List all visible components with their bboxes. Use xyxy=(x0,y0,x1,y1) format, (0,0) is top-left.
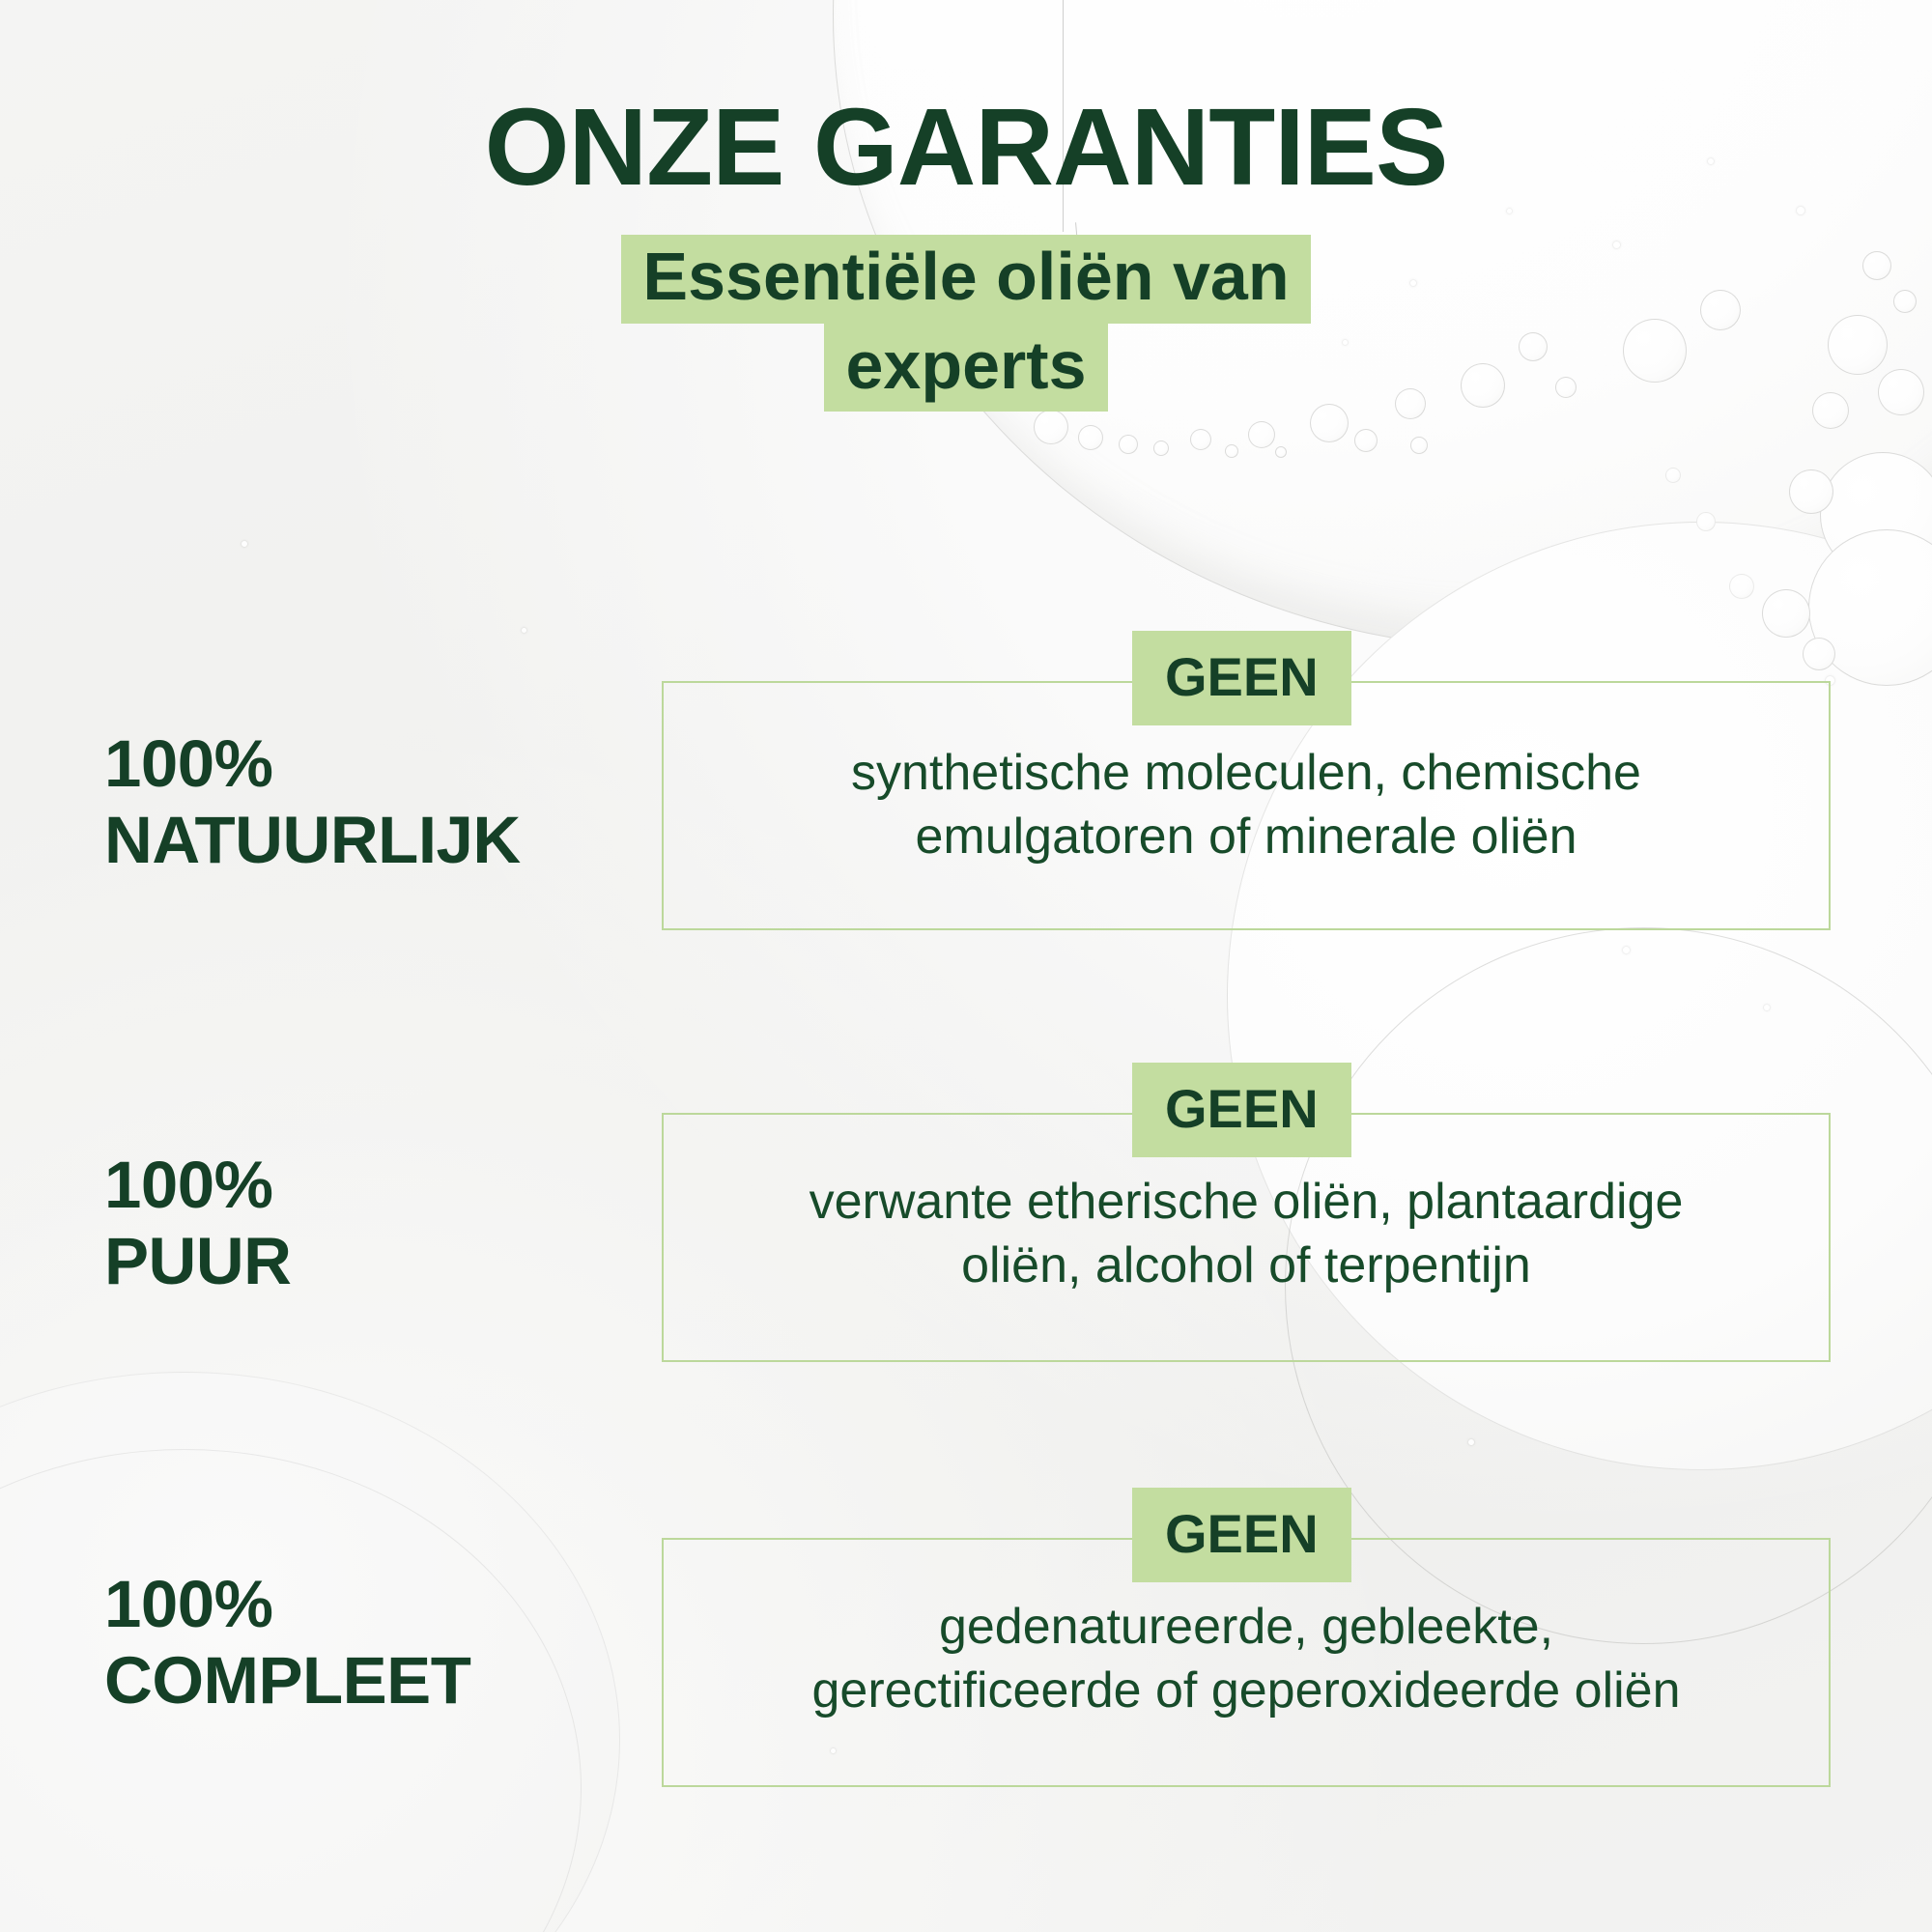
bubble xyxy=(1190,429,1211,450)
status-badge: GEEN xyxy=(1132,1063,1351,1157)
subtitle-line-1: Essentiële oliën van xyxy=(621,235,1310,324)
bubble xyxy=(1225,444,1238,458)
subtitle-line-2: experts xyxy=(824,324,1107,412)
guarantee-text: synthetische moleculen, chemische emulga… xyxy=(681,742,1811,868)
bubble xyxy=(1078,425,1103,450)
status-badge: GEEN xyxy=(1132,1488,1351,1582)
poster-header: ONZE GARANTIES Essentiële oliën van expe… xyxy=(0,93,1932,412)
guarantee-text: verwante etherische oliën, plantaardige … xyxy=(676,1171,1816,1297)
bubble xyxy=(1789,469,1833,514)
bubble xyxy=(1762,589,1810,638)
guarantees-poster: ONZE GARANTIES Essentiële oliën van expe… xyxy=(0,0,1932,1932)
page-title: ONZE GARANTIES xyxy=(0,93,1932,202)
bubble xyxy=(1729,574,1754,599)
sparkle xyxy=(1764,1005,1770,1010)
bubble xyxy=(1119,435,1138,454)
bubble xyxy=(1248,421,1275,448)
guarantee-label: 100% NATUURLIJK xyxy=(104,726,521,878)
sparkle xyxy=(1468,1439,1474,1445)
bubble xyxy=(1354,429,1378,452)
bubble xyxy=(1665,468,1681,483)
bubble xyxy=(1034,410,1068,444)
bubble-large xyxy=(1808,529,1932,686)
bubble xyxy=(1696,512,1716,531)
subtitle: Essentiële oliën van experts xyxy=(0,235,1932,412)
bubble xyxy=(1803,638,1835,670)
bubble-large xyxy=(1820,452,1932,578)
sparkle xyxy=(1623,947,1630,953)
guarantee-label: 100% PUUR xyxy=(104,1148,292,1299)
bubble xyxy=(1410,437,1428,454)
guarantee-label: 100% COMPLEET xyxy=(104,1567,470,1719)
bubble xyxy=(1275,446,1287,458)
status-badge: GEEN xyxy=(1132,631,1351,725)
sparkle xyxy=(522,628,526,633)
sparkle xyxy=(241,541,247,547)
bubble xyxy=(1153,440,1169,456)
guarantee-text: gedenatureerde, gebleekte, gerectificeer… xyxy=(676,1596,1816,1722)
